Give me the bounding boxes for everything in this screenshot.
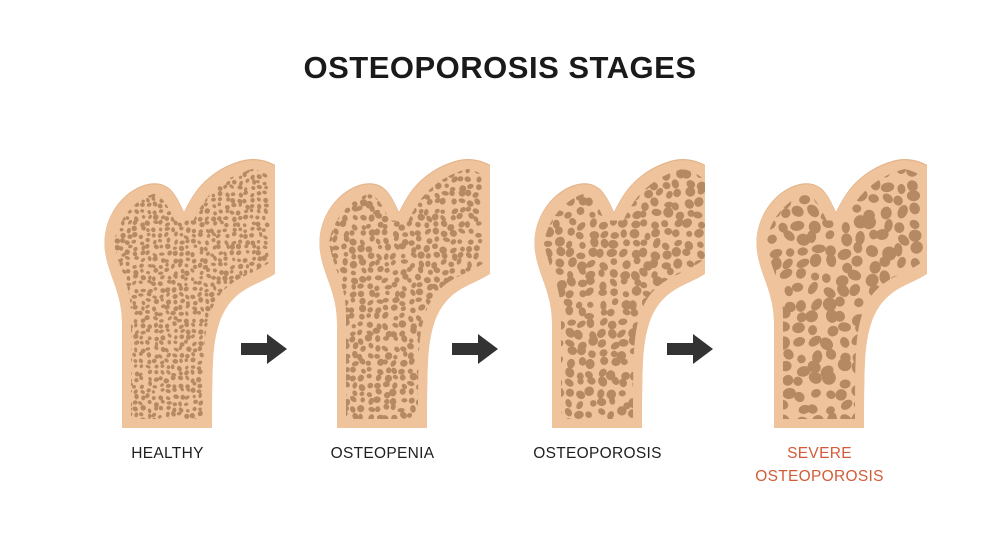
femur-bone-illustration (60, 128, 275, 428)
progression-arrow-1 (241, 332, 287, 366)
stage-label-line-2: OSTEOPOROSIS (712, 465, 927, 488)
stage-label-line-1: OSTEOPENIA (275, 442, 490, 465)
bone-stage-severe-osteoporosis (712, 128, 927, 428)
osteoporosis-stages-figure: OSTEOPOROSIS STAGES HEALTHYOSTEOPENIAOST… (0, 0, 1000, 556)
progression-arrow-2 (452, 332, 498, 366)
stage-label-severe-osteoporosis: SEVEREOSTEOPOROSIS (712, 442, 927, 488)
stage-label-line-1: OSTEOPOROSIS (490, 442, 705, 465)
arrow-right-icon (241, 332, 287, 366)
bone-stage-healthy (60, 128, 275, 428)
stage-label-osteoporosis: OSTEOPOROSIS (490, 442, 705, 465)
stage-label-line-1: HEALTHY (60, 442, 275, 465)
stage-label-healthy: HEALTHY (60, 442, 275, 465)
bone-cortical-shell (104, 160, 275, 428)
femur-bone-illustration (712, 128, 927, 428)
stage-label-line-1: SEVERE (712, 442, 927, 465)
page-title: OSTEOPOROSIS STAGES (0, 50, 1000, 86)
arrow-right-icon (667, 332, 713, 366)
bone-stage-osteoporosis (490, 128, 705, 428)
stage-label-osteopenia: OSTEOPENIA (275, 442, 490, 465)
bone-stage-osteopenia (275, 128, 490, 428)
femur-bone-illustration (275, 128, 490, 428)
progression-arrow-3 (667, 332, 713, 366)
arrow-right-icon (452, 332, 498, 366)
femur-bone-illustration (490, 128, 705, 428)
